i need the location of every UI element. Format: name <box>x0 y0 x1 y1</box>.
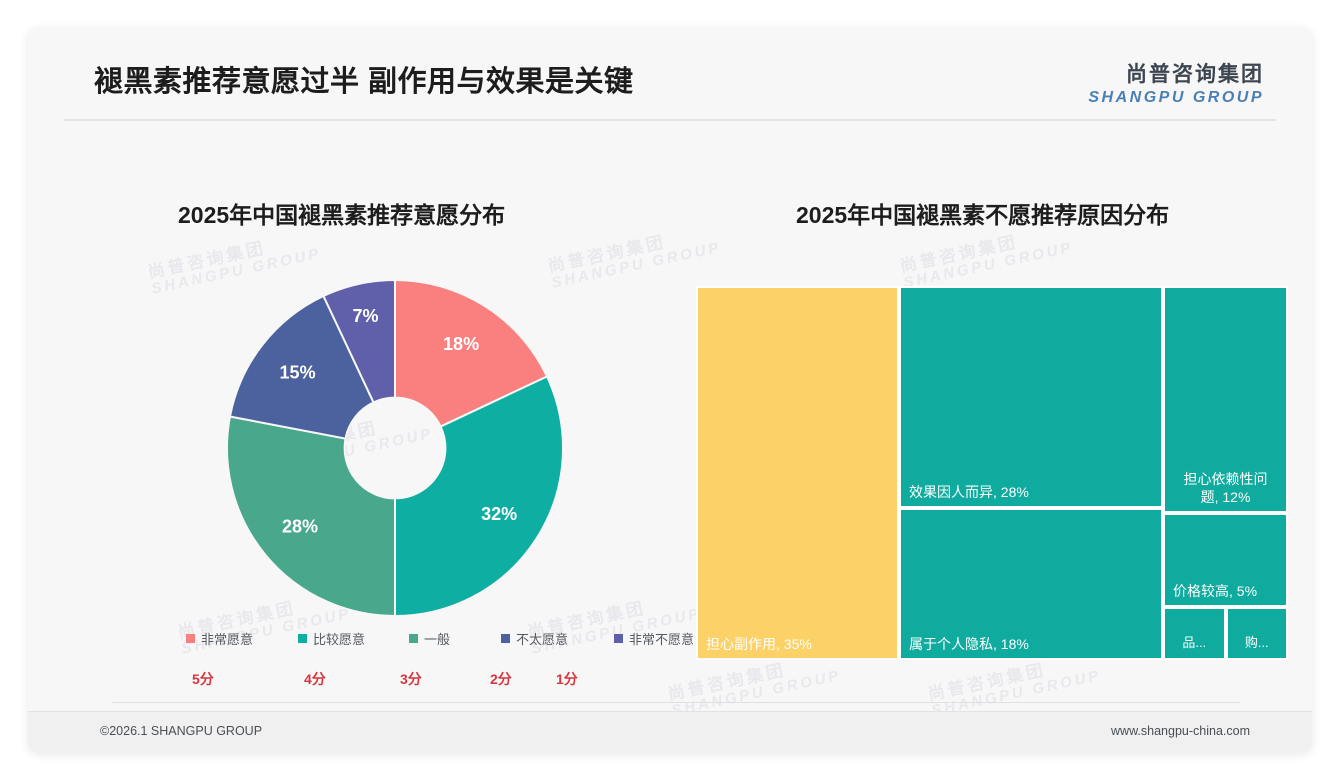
watermark-cn: 尚普咨询集团 <box>546 222 719 275</box>
slide-card: 尚普咨询集团SHANGPU GROUP 尚普咨询集团SHANGPU GROUP … <box>28 28 1312 752</box>
logo-english-text: SHANGPU GROUP <box>1088 90 1264 106</box>
treemap-cell[interactable]: 属于个人隐私, 18% <box>899 508 1163 660</box>
donut-svg: 18%32%28%15%7% <box>225 278 565 618</box>
slide-page: 尚普咨询集团SHANGPU GROUP 尚普咨询集团SHANGPU GROUP … <box>0 0 1340 780</box>
watermark-cn: 尚普咨询集团 <box>146 228 319 281</box>
legend-swatch <box>186 634 195 643</box>
treemap-cell-label: 价格较高, 5% <box>1173 583 1281 601</box>
brand-logo: 尚普咨询集团 SHANGPU GROUP <box>1088 64 1264 106</box>
page-title: 褪黑素推荐意愿过半 副作用与效果是关键 <box>94 58 634 100</box>
treemap-cell[interactable]: 效果因人而异, 28% <box>899 286 1163 508</box>
footer-copyright: ©2026.1 SHANGPU GROUP <box>100 724 262 738</box>
legend-label: 比较愿意 <box>313 629 365 648</box>
unwilling-reasons-treemap: 担心副作用, 35%效果因人而异, 28%属于个人隐私, 18%担心依赖性问题,… <box>696 286 1288 660</box>
donut-score-row: 5分4分3分2分1分 <box>168 669 648 691</box>
watermark-en: SHANGPU GROUP <box>902 240 1075 291</box>
treemap-cell-label: 担心依赖性问题, 12% <box>1169 471 1282 506</box>
logo-chinese-text: 尚普咨询集团 <box>1088 64 1264 85</box>
treemap-cell-label: 效果因人而异, 28% <box>909 484 1156 502</box>
treemap-cell[interactable]: 担心副作用, 35% <box>696 286 899 660</box>
donut-slice[interactable] <box>395 376 563 616</box>
legend-label: 一般 <box>424 629 450 648</box>
watermark-cn: 尚普咨询集团 <box>898 222 1071 275</box>
donut-slice-label: 15% <box>280 362 316 382</box>
footnote-divider <box>112 702 1240 703</box>
legend-item[interactable]: 不太愿意 <box>501 629 568 648</box>
donut-legend: 非常愿意比较愿意一般不太愿意非常不愿意 <box>168 629 648 651</box>
score-label: 4分 <box>304 669 326 689</box>
legend-label: 不太愿意 <box>516 629 568 648</box>
score-label: 1分 <box>556 669 578 689</box>
treemap-cell[interactable]: 担心依赖性问题, 12% <box>1163 286 1288 513</box>
score-label: 5分 <box>192 669 214 689</box>
treemap-cell-label: 担心副作用, 35% <box>706 636 892 654</box>
legend-item[interactable]: 比较愿意 <box>298 629 365 648</box>
donut-slice-label: 7% <box>353 306 379 326</box>
score-label: 3分 <box>400 669 422 689</box>
legend-swatch <box>298 634 307 643</box>
donut-slice-label: 28% <box>282 517 318 537</box>
right-chart-title: 2025年中国褪黑素不愿推荐原因分布 <box>796 196 1169 230</box>
footer-website[interactable]: www.shangpu-china.com <box>1111 724 1250 738</box>
slide-footer: ©2026.1 SHANGPU GROUP www.shangpu-china.… <box>28 711 1312 752</box>
legend-label: 非常愿意 <box>201 629 253 648</box>
donut-slice-label: 32% <box>481 504 517 524</box>
legend-swatch <box>409 634 418 643</box>
legend-item[interactable]: 非常愿意 <box>186 629 253 648</box>
recommendation-willingness-donut-chart: 18%32%28%15%7% <box>225 278 565 618</box>
legend-swatch <box>501 634 510 643</box>
watermark-en: SHANGPU GROUP <box>550 240 723 291</box>
left-chart-title: 2025年中国褪黑素推荐意愿分布 <box>178 196 505 230</box>
treemap-cell-label: 购... <box>1231 635 1284 651</box>
legend-item[interactable]: 一般 <box>409 629 450 648</box>
treemap-cell[interactable]: 价格较高, 5% <box>1163 513 1288 607</box>
treemap-cell-label: 品... <box>1168 635 1221 651</box>
score-label: 2分 <box>490 669 512 689</box>
donut-slice-label: 18% <box>443 334 479 354</box>
treemap-cell[interactable]: 购... <box>1226 607 1289 660</box>
slide-header: 褪黑素推荐意愿过半 副作用与效果是关键 尚普咨询集团 SHANGPU GROUP <box>28 28 1312 120</box>
header-divider <box>64 119 1276 121</box>
legend-swatch <box>614 634 623 643</box>
treemap-cell-label: 属于个人隐私, 18% <box>909 636 1156 654</box>
treemap-cell[interactable]: 品... <box>1163 607 1226 660</box>
legend-label: 非常不愿意 <box>629 629 694 648</box>
legend-item[interactable]: 非常不愿意 <box>614 629 694 648</box>
